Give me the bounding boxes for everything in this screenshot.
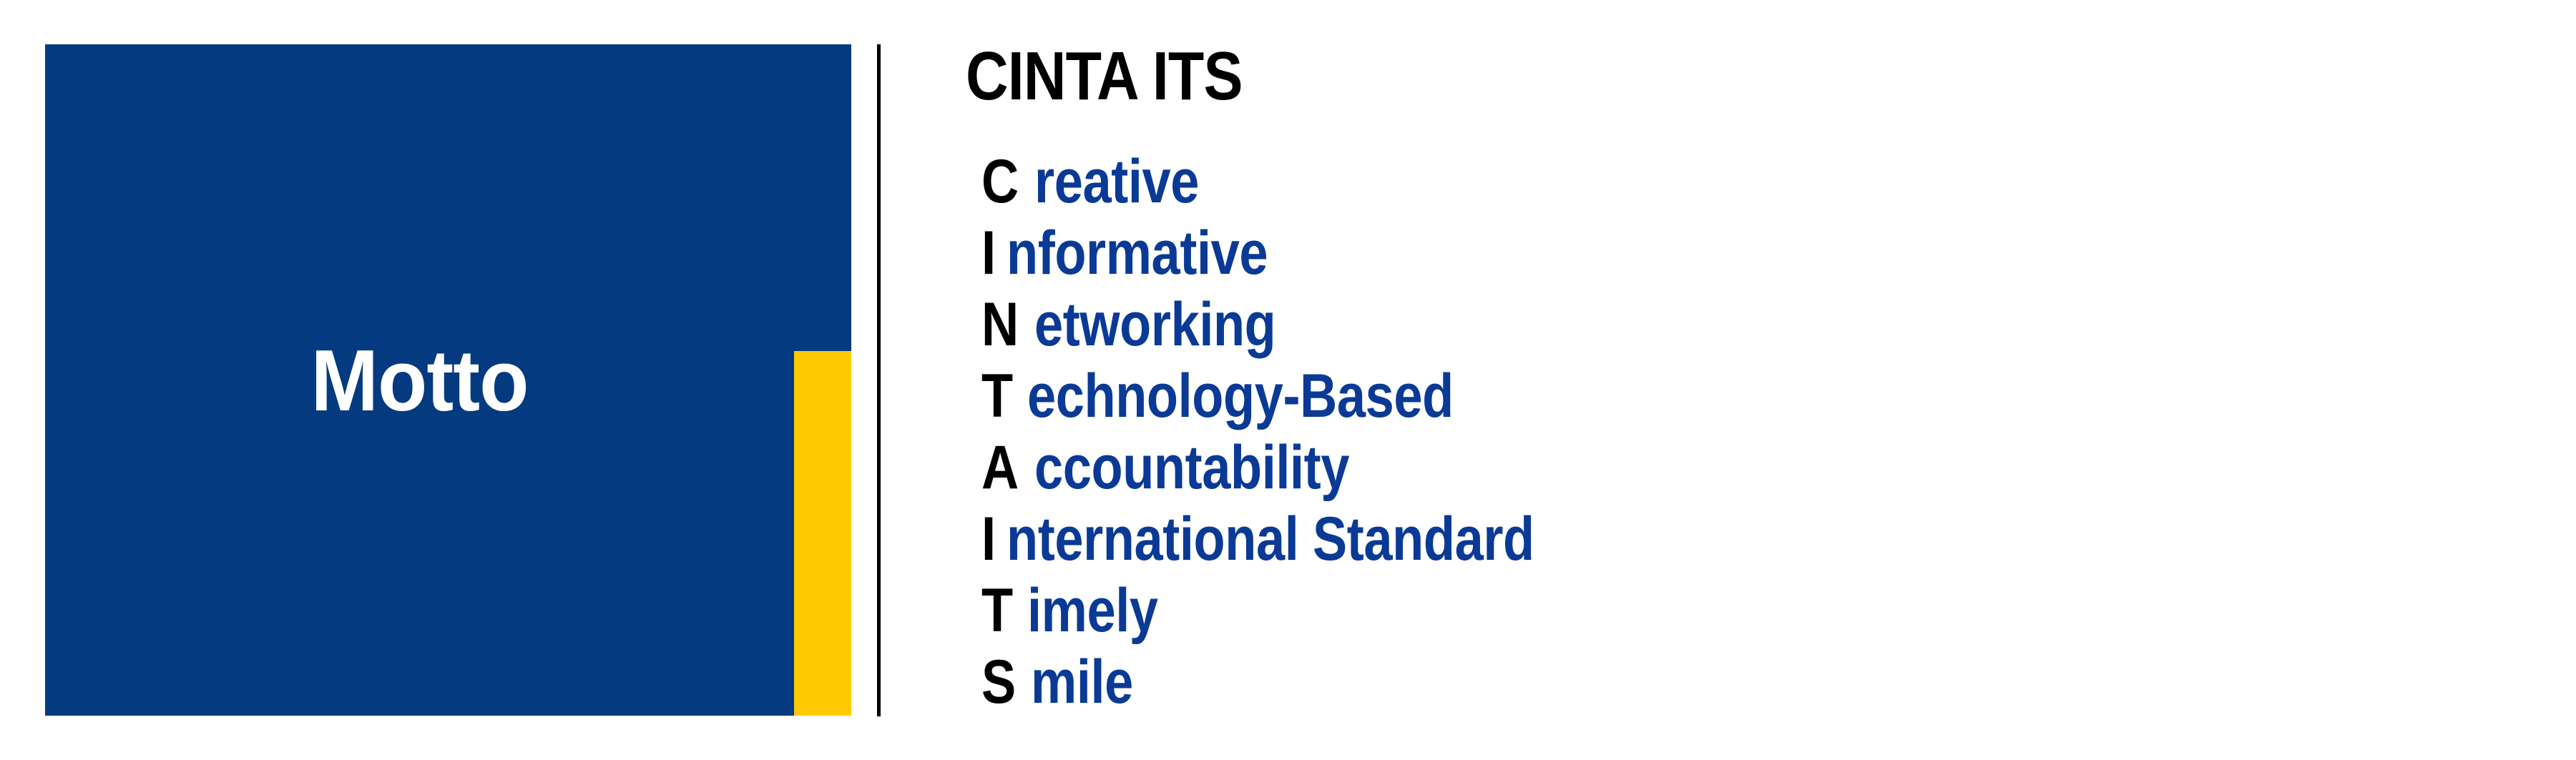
acronym-initial: S [981,646,1016,718]
acronym-rest: imely [1027,575,1158,646]
acronym-rest: ccountability [1034,432,1349,503]
motto-label: Motto [72,44,768,716]
motto-slide: Motto CINTA ITS Creative Informative Net… [0,0,2576,760]
acronym-rest: echnology-Based [1027,360,1454,432]
acronym-rest: etworking [1034,289,1275,360]
acronym-panel: CINTA ITS Creative Informative Networkin… [966,37,2468,724]
list-item: International Standard [981,503,2448,575]
acronym-list: Creative Informative Networking Technolo… [981,146,2448,718]
acronym-rest: nformative [1007,217,1268,289]
acronym-initial: T [981,575,1013,646]
page-title: CINTA ITS [966,37,1243,116]
acronym-initial: I [981,217,996,289]
acronym-initial: N [981,289,1019,360]
motto-block: Motto [45,44,851,716]
acronym-initial: T [981,360,1013,432]
acronym-initial: I [981,503,996,575]
list-item: Networking [981,289,2448,360]
list-item: Accountability [981,432,2448,503]
acronym-rest: nternational Standard [1007,503,1534,575]
list-item: Timely [981,575,2448,646]
list-item: Smile [981,646,2448,718]
acronym-initial: C [981,146,1019,217]
list-item: Informative [981,217,2448,289]
list-item: Creative [981,146,2448,217]
list-item: Technology-Based [981,360,2448,432]
acronym-rest: reative [1034,146,1199,217]
vertical-divider [877,44,881,716]
acronym-rest: mile [1031,646,1133,718]
acronym-initial: A [981,432,1019,503]
yellow-accent-bar [794,351,851,716]
